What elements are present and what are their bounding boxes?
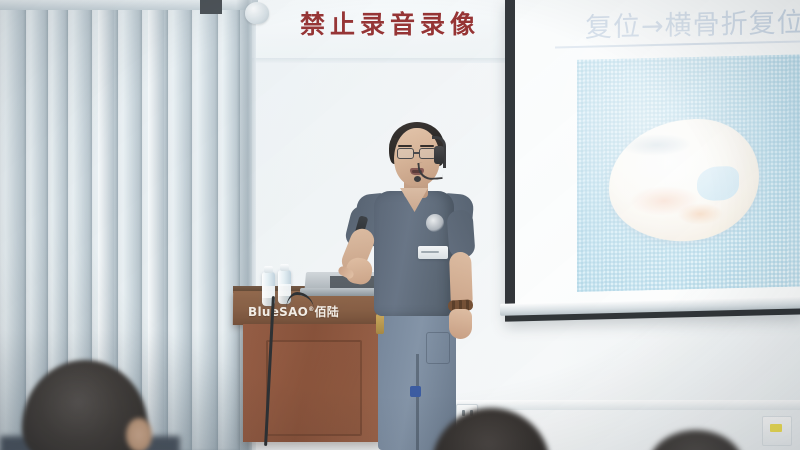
lecture-photo: 禁止录音录像 复位→横骨折复位 BlueSAO®佰陆	[0, 0, 800, 450]
slide-photo	[577, 54, 800, 292]
bone-notch	[697, 166, 739, 201]
left-hand	[449, 309, 472, 339]
no-recording-banner: 禁止录音录像	[300, 5, 480, 41]
audience-ear	[126, 418, 152, 450]
projection-screen-surface: 复位→横骨折复位	[515, 0, 800, 309]
pants-pocket	[426, 332, 450, 364]
pants-seam	[416, 354, 419, 450]
projection-screen-frame: 复位→横骨折复位	[505, 0, 800, 322]
headset-microphone-icon	[414, 176, 421, 182]
pants-badge	[410, 386, 421, 397]
slide-title: 复位→横骨折复位	[585, 0, 800, 44]
chest-logo-icon	[426, 214, 444, 232]
eyeglasses-left-lens-icon	[397, 148, 414, 159]
presenter	[330, 118, 495, 450]
ceiling-fixture	[200, 0, 222, 14]
pants-tag	[376, 314, 384, 334]
warning-label	[770, 424, 782, 432]
name-badge-text	[421, 251, 439, 253]
eyeglasses-bridge	[414, 152, 420, 154]
wall-speaker-icon	[245, 2, 269, 24]
